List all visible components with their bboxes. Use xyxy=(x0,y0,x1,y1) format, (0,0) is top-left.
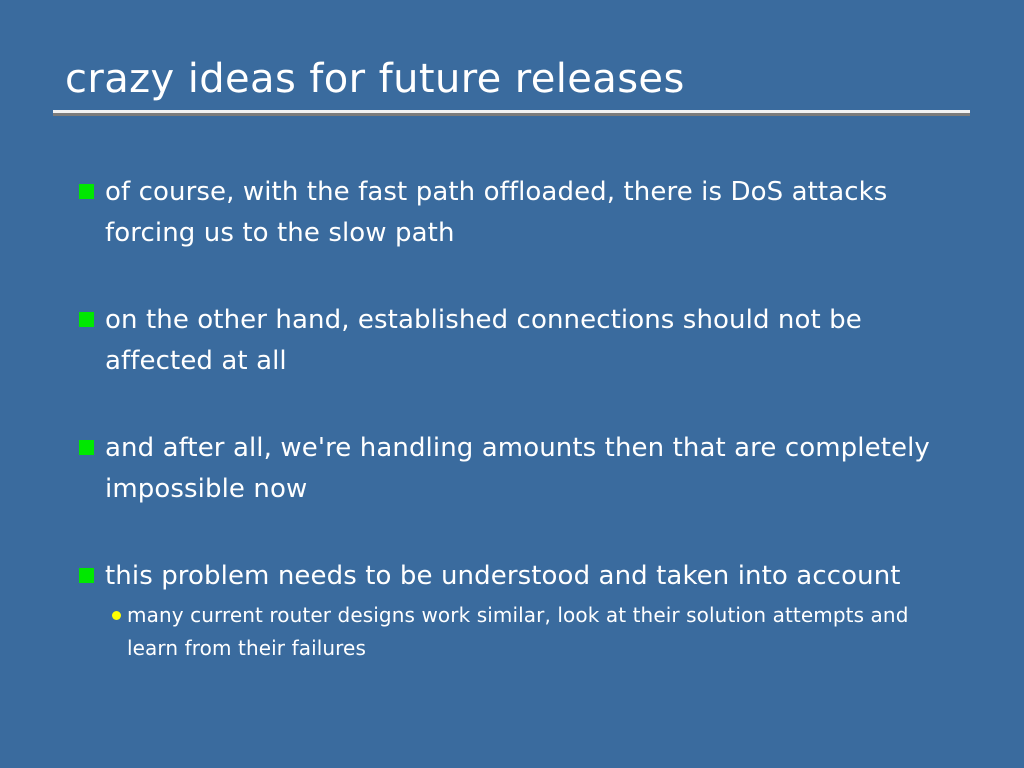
bullet-row: on the other hand, established connectio… xyxy=(79,300,959,382)
list-item: this problem needs to be understood and … xyxy=(79,556,959,665)
list-item: of course, with the fast path offloaded,… xyxy=(79,172,959,254)
green-square-bullet-icon xyxy=(79,568,94,583)
list-item: on the other hand, established connectio… xyxy=(79,300,959,382)
bullet-row: this problem needs to be understood and … xyxy=(79,556,959,597)
presentation-slide: crazy ideas for future releases of cours… xyxy=(0,0,1024,768)
bullet-text: on the other hand, established connectio… xyxy=(105,305,862,376)
title-divider xyxy=(53,110,970,116)
bullet-text: this problem needs to be understood and … xyxy=(105,561,901,591)
green-square-bullet-icon xyxy=(79,440,94,455)
bullet-list: of course, with the fast path offloaded,… xyxy=(79,172,959,665)
bullet-row: of course, with the fast path offloaded,… xyxy=(79,172,959,254)
yellow-dot-bullet-icon xyxy=(112,611,121,620)
divider-shadow-line xyxy=(53,113,970,116)
bullet-text: of course, with the fast path offloaded,… xyxy=(105,177,887,248)
bullet-row: and after all, we're handling amounts th… xyxy=(79,428,959,510)
title-block: crazy ideas for future releases xyxy=(53,52,970,106)
bullet-text: and after all, we're handling amounts th… xyxy=(105,433,930,504)
green-square-bullet-icon xyxy=(79,312,94,327)
sub-bullet-text: many current router designs work similar… xyxy=(127,603,909,660)
sub-bullet-list: many current router designs work similar… xyxy=(79,599,959,665)
green-square-bullet-icon xyxy=(79,184,94,199)
list-item: and after all, we're handling amounts th… xyxy=(79,428,959,510)
sub-list-item: many current router designs work similar… xyxy=(112,599,959,665)
page-title: crazy ideas for future releases xyxy=(53,52,970,106)
